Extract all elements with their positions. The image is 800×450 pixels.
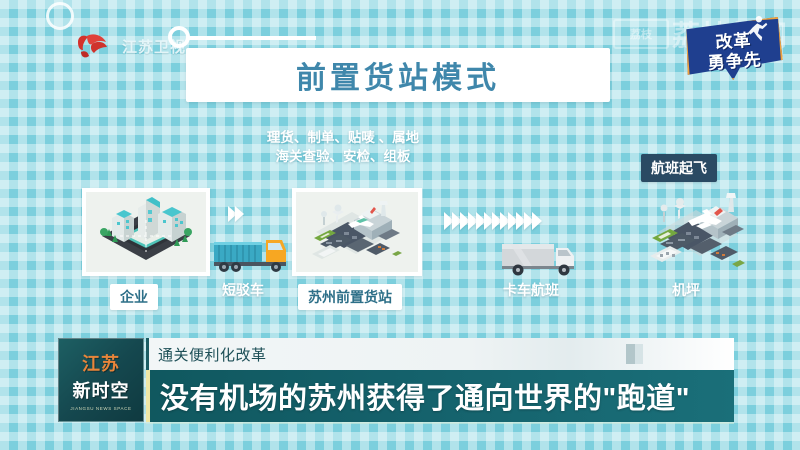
program-logo: 江苏 新时空 JIANGSU NEWS SPACE xyxy=(58,338,144,422)
page-title: 前置货站模式 xyxy=(296,53,500,97)
process-note-line2: 海关查验、安检、组板 xyxy=(236,147,450,166)
program-logo-line2: 新时空 xyxy=(73,377,130,403)
process-note: 理货、制单、贴唛 、属地 海关查验、安检、组板 xyxy=(236,128,450,166)
process-note-line1: 理货、制单、贴唛 、属地 xyxy=(236,128,450,147)
program-logo-subtitle: JIANGSU NEWS SPACE xyxy=(70,406,131,411)
title-card-stem xyxy=(186,36,316,40)
kicker-pixel-decoration xyxy=(626,344,660,364)
lower-third-kicker: 通关便利化改革 xyxy=(146,338,734,370)
box-truck-icon xyxy=(498,236,582,280)
program-logo-line1: 江苏 xyxy=(82,350,120,376)
kicker-text: 通关便利化改革 xyxy=(158,344,267,365)
label-station: 苏州前置货站 xyxy=(298,284,402,310)
label-shuttle: 短驳车 xyxy=(222,280,264,300)
container-truck-icon xyxy=(210,232,296,276)
chevron-right-icon xyxy=(532,212,542,230)
lower-third-underline xyxy=(146,422,734,424)
chevron-arrows-long xyxy=(444,212,540,230)
program-badge: 改革 勇争先 xyxy=(684,17,784,84)
label-truck-flight: 卡车航班 xyxy=(503,280,559,300)
kicker-accent-bar xyxy=(146,338,149,370)
program-badge-line2: 勇争先 xyxy=(686,44,784,76)
watermark-box: 荔枝 xyxy=(613,19,669,49)
title-card: 前置货站模式 xyxy=(186,48,610,102)
label-apron: 机坪 xyxy=(672,280,700,300)
broadcast-frame: 江苏卫视 荔枝 荔枝新闻 改革 勇争先 前置货站模式 理货、制单、贴唛 、属地 … xyxy=(0,0,800,450)
isometric-cargo-terminal-icon xyxy=(292,188,422,276)
lower-third-headline: 没有机场的苏州获得了通向世界的"跑道" xyxy=(146,370,734,422)
headline-text: 没有机场的苏州获得了通向世界的"跑道" xyxy=(160,375,690,417)
watermark-ring-icon xyxy=(46,2,74,30)
lower-third-banner: 江苏 新时空 JIANGSU NEWS SPACE 通关便利化改革 没有机场的苏… xyxy=(58,338,734,422)
chevron-arrows-short xyxy=(228,206,242,222)
isometric-airport-apron-icon xyxy=(634,188,762,280)
label-flight-departure: 航班起飞 xyxy=(641,154,717,182)
jiangsu-tv-mark-icon xyxy=(72,28,116,64)
chevron-right-icon xyxy=(235,206,244,222)
isometric-city-icon xyxy=(82,188,210,276)
label-enterprise: 企业 xyxy=(110,284,158,310)
title-card-ring-icon xyxy=(168,26,190,48)
